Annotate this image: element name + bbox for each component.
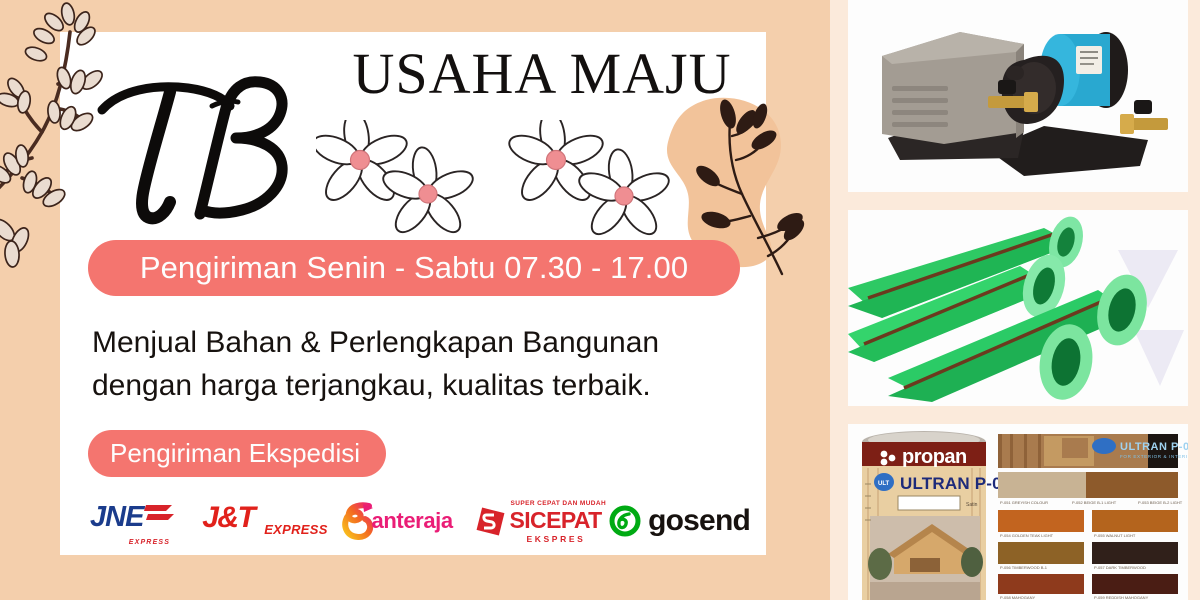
svg-text:P-057 DARK TIMBERWOOD: P-057 DARK TIMBERWOOD (1094, 565, 1146, 570)
tb-script-monogram (84, 64, 324, 232)
promotional-banner: USAHA MAJU (0, 0, 1200, 600)
card-content-area: USAHA MAJU (60, 32, 766, 555)
courier-logo-anteraja: anteraja (341, 500, 445, 542)
jnt-wordmark: J&T (202, 501, 254, 535)
svg-text:P-052 BEIGE B-1 LIGHT: P-052 BEIGE B-1 LIGHT (1072, 500, 1117, 505)
courier-logo-jne: JNE EXPRESS (90, 499, 172, 543)
jnt-subtext: EXPRESS (264, 522, 328, 537)
sicepat-tagline: SUPER CEPAT DAN MUDAH (511, 500, 607, 507)
tagline-text: Menjual Bahan & Perlengkapan Bangunan de… (92, 322, 752, 407)
svg-text:P-056 TIMBERWOOD B-1: P-056 TIMBERWOOD B-1 (1000, 565, 1048, 570)
anteraja-wordmark: anteraja (372, 508, 453, 534)
brand-header: USAHA MAJU (60, 38, 766, 243)
tagline-line-2: dengan harga terjangkau, kualitas terbai… (92, 365, 752, 408)
product-photo-column: propan ULT ULTRAN P-05 Satin (830, 0, 1200, 600)
gosend-wordmark: gosend (648, 504, 750, 538)
courier-logo-strip: JNE EXPRESS J&T EXPRESS (90, 494, 750, 548)
delivery-schedule-badge: Pengiriman Senin - Sabtu 07.30 - 17.00 (88, 240, 740, 296)
svg-text:P-059 REDDISH MAHOGANY: P-059 REDDISH MAHOGANY (1094, 595, 1149, 600)
water-pump-photo (848, 0, 1188, 192)
svg-text:P-055 WALNUT LIGHT: P-055 WALNUT LIGHT (1094, 533, 1136, 538)
jne-subtext: EXPRESS (129, 539, 170, 546)
propan-paint-can-photo: propan ULT ULTRAN P-05 Satin (848, 424, 1188, 600)
jne-stripe-icon (144, 503, 174, 529)
svg-text:ULTRAN P-05: ULTRAN P-05 (900, 474, 1011, 493)
courier-logo-jnt-express: J&T EXPRESS (202, 501, 310, 541)
svg-text:Satin: Satin (966, 502, 978, 508)
sicepat-wordmark: SICEPAT (510, 507, 602, 534)
gosend-circle-icon (609, 505, 641, 537)
svg-text:propan: propan (902, 446, 967, 468)
svg-text:P-058 MAHOGANY: P-058 MAHOGANY (1000, 595, 1035, 600)
courier-logo-sicepat: SUPER CEPAT DAN MUDAH SICEPAT EKSPRES (475, 498, 580, 544)
left-info-panel: USAHA MAJU (0, 0, 830, 600)
jne-wordmark: JNE (90, 501, 143, 534)
page-title: USAHA MAJU (318, 44, 766, 104)
tagline-line-1: Menjual Bahan & Perlengkapan Bangunan (92, 322, 752, 365)
svg-text:P-054 GOLDEN TEAK LIGHT: P-054 GOLDEN TEAK LIGHT (1000, 533, 1054, 538)
svg-text:P-051 GREYISH COLOUR: P-051 GREYISH COLOUR (1000, 500, 1048, 505)
svg-text:FOR EXTERIOR & INTERIOR: FOR EXTERIOR & INTERIOR (1120, 454, 1188, 459)
sicepat-subtext: EKSPRES (527, 534, 586, 544)
green-ppr-pipes-photo (848, 210, 1188, 406)
sicepat-diamond-icon (475, 506, 506, 537)
flower-line-art-decoration (316, 120, 672, 242)
svg-text:P-053 BEIGE B-2 LIGHT: P-053 BEIGE B-2 LIGHT (1138, 500, 1183, 505)
svg-text:ULT: ULT (878, 481, 890, 487)
anteraja-swirl-icon (341, 502, 375, 540)
courier-logo-gosend: gosend (609, 501, 750, 541)
svg-text:ULTRAN P-05: ULTRAN P-05 (1120, 441, 1188, 453)
shipping-badge: Pengiriman Ekspedisi (88, 430, 386, 477)
